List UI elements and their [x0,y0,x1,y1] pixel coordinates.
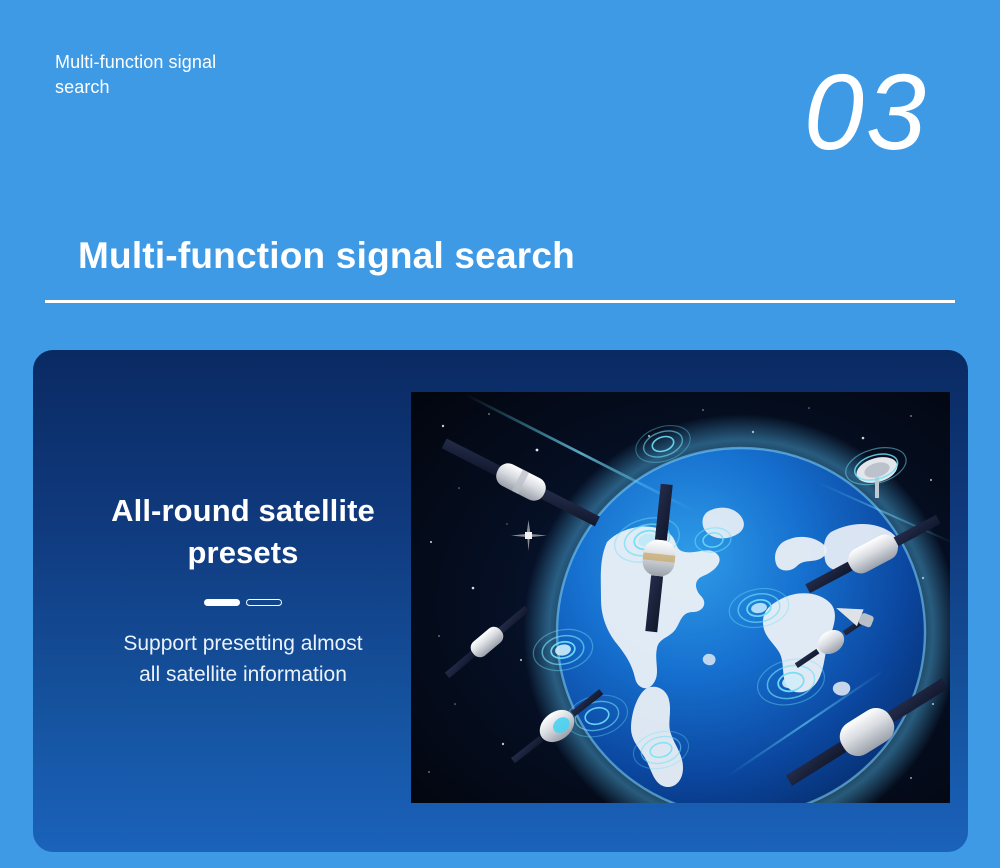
satellite-earth-illustration [411,392,950,803]
satellite-earth-svg [411,392,950,803]
section-number: 03 [804,58,928,166]
feature-card: All-round satellite presets Support pres… [33,350,968,852]
title-divider-rule [45,300,955,303]
feature-card-heading: All-round satellite presets [73,490,413,574]
pill-divider [73,599,413,606]
feature-card-text-column: All-round satellite presets Support pres… [73,490,413,690]
slide-page: Multi-function signal search 03 Multi-fu… [0,0,1000,868]
pill-divider-inactive-segment[interactable] [246,599,282,606]
feature-card-body-text: Support presetting almost all satellite … [73,628,413,690]
page-title: Multi-function signal search [78,232,575,280]
pill-divider-active-segment[interactable] [204,599,240,606]
header-eyebrow-text: Multi-function signal search [55,50,355,100]
